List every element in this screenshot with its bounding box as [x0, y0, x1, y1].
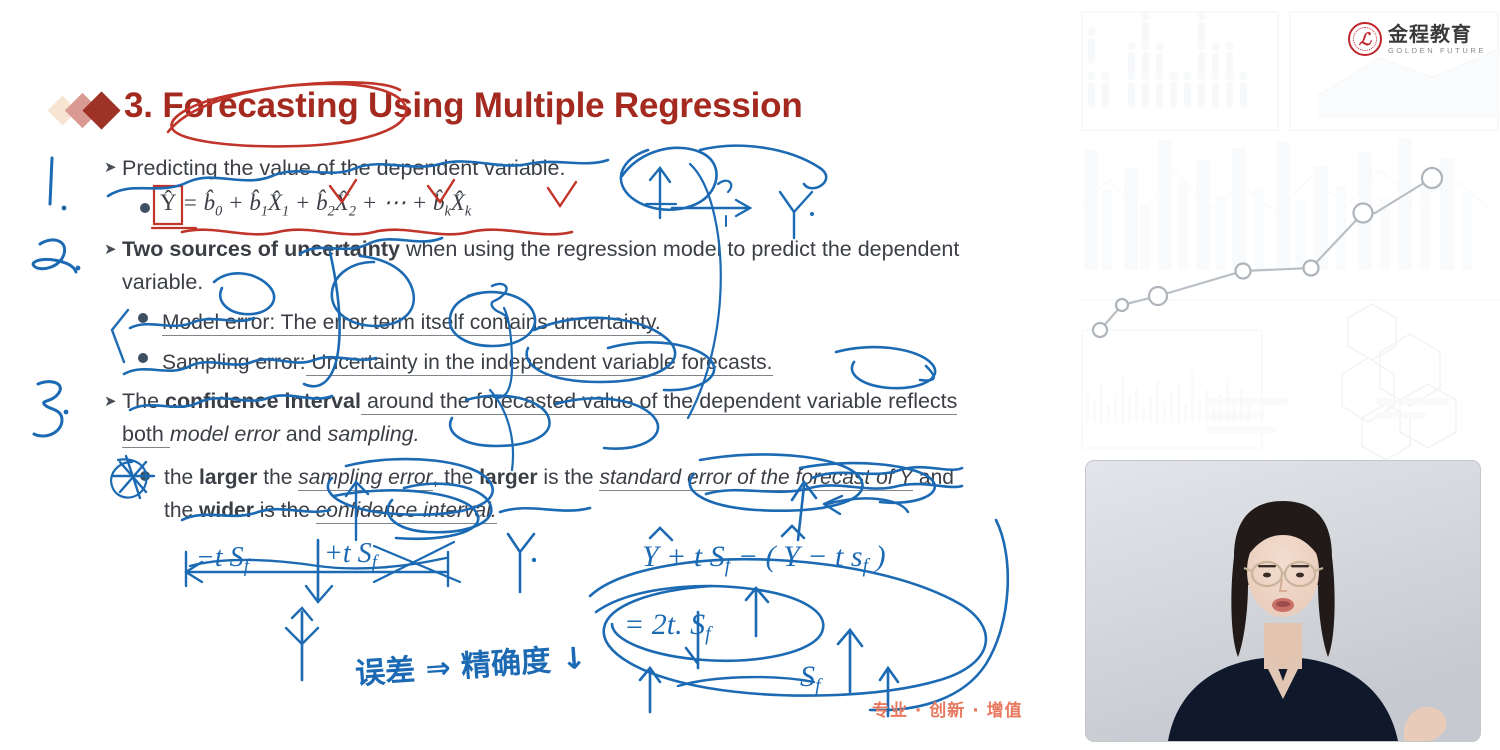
- regression-formula: Ŷ = b̂0 + b̂1X̂1 + b̂2X̂2 + ⋯ + b̂kX̂k: [160, 190, 471, 221]
- footer-slogan: 专业 · 创新 · 增值: [872, 696, 1023, 721]
- bullet-3-pre: The: [122, 389, 165, 413]
- bullet-3-text: The confidence interval around the forec…: [122, 385, 962, 451]
- bullet-marker-3: ➤: [104, 392, 117, 410]
- brand-name-cn: 金程教育: [1388, 24, 1486, 44]
- bullet-3-mid-2: and: [280, 422, 328, 446]
- ink-up-arrow-2: [838, 630, 862, 692]
- bullet-3-ital-2: sampling.: [328, 422, 420, 446]
- presenter-video-frame: [1086, 461, 1480, 741]
- formula-bullet-dot: [140, 203, 150, 213]
- slide-canvas: ℒ 金程教育 GOLDEN FUTURE 3. Forecasting Usin…: [0, 0, 1500, 750]
- sub-bullet-dot-model-error: [138, 313, 148, 323]
- sb-p2: the: [257, 466, 298, 489]
- sub-bullet-dot-sampling-error: [138, 353, 148, 363]
- ink-math-glyphs: −t Sf +t Sf Y + t Sf − ( Y − t sf ) = 2t…: [196, 538, 886, 697]
- sub-bullet-dot-larger-sampling: [140, 471, 150, 481]
- bullet-3-ital-1: model error: [170, 422, 280, 446]
- bullet-2-text: Two sources of uncertainty when using th…: [122, 233, 982, 299]
- title-diamond-decoration: [48, 86, 134, 134]
- ink-hat-2: [782, 526, 804, 538]
- sb-p1: the: [164, 466, 199, 489]
- sb-i2: standard error of the forecast of Y: [599, 466, 913, 491]
- ink-sf-note: Sf: [800, 660, 823, 697]
- sub-bullet-sampling-error: Sampling error: Uncertainty in the indep…: [162, 346, 962, 379]
- bullet-2-bold-lead: Two sources of uncertainty: [122, 237, 400, 261]
- formula-lhs: Ŷ: [160, 190, 177, 215]
- sub-bullet-model-error-label: Model error:: [162, 311, 275, 336]
- page-title-number: 3.: [124, 86, 153, 125]
- sub-bullet-sampling-error-text: Uncertainty in the independent variable …: [306, 351, 773, 376]
- sb-p3: , the: [433, 466, 480, 489]
- ink-result-expr: = 2t. Sf: [624, 608, 713, 645]
- sb-b3: wider: [199, 499, 254, 522]
- sb-i3: confidence interval.: [316, 499, 497, 524]
- ink-minus-tsf: −t Sf: [196, 542, 252, 577]
- formula-rhs: = b̂0 + b̂1X̂1 + b̂2X̂2 + ⋯ + b̂kX̂k: [182, 190, 471, 215]
- ink-width-expr: Y + t Sf − ( Y − t sf ): [642, 540, 886, 577]
- ink-cjk-note: 误差 ⇒ 精确度 ↓: [354, 641, 587, 692]
- ink-up-arrow-1: [746, 588, 768, 636]
- brand-name-en: GOLDEN FUTURE: [1388, 47, 1486, 55]
- bullet-marker-1: ➤: [104, 158, 117, 176]
- page-title-text: Forecasting Using Multiple Regression: [162, 86, 802, 125]
- presenter-video[interactable]: [1086, 461, 1480, 741]
- sb-p6: is the: [254, 499, 316, 522]
- background-line-chart: [1093, 168, 1442, 337]
- brand-seal-icon: ℒ: [1348, 22, 1382, 56]
- ink-plus-tsf: +t Sf: [324, 538, 380, 573]
- bullet-marker-2: ➤: [104, 240, 117, 258]
- background-infographic: [1080, 0, 1500, 470]
- sub-bullet-model-error-text: The error term itself contains uncertain…: [275, 311, 661, 336]
- bullet-1-text: Predicting the value of the dependent va…: [122, 152, 882, 185]
- svg-text:误差 ⇒ 精确度 ↓: 误差 ⇒ 精确度 ↓: [354, 641, 587, 692]
- ink-hat-1: [650, 528, 672, 540]
- sb-b1: larger: [199, 466, 257, 489]
- bullet-3-bold-1: confidence interval: [165, 389, 361, 413]
- sb-i1: sampling error: [298, 466, 432, 491]
- ink-down-arrow-cjk: [640, 668, 660, 712]
- brand-logo: ℒ 金程教育 GOLDEN FUTURE: [1348, 22, 1486, 56]
- sb-b2: larger: [479, 466, 537, 489]
- sub-bullet-sampling-error-label: Sampling error:: [162, 351, 306, 374]
- sub-bullet-larger-sampling: the larger the sampling error, the large…: [164, 461, 954, 527]
- sb-p4: is the: [538, 466, 600, 489]
- ink-tick-1: [686, 612, 698, 668]
- sub-bullet-model-error: Model error: The error term itself conta…: [162, 306, 922, 339]
- brand-seal-glyph: ℒ: [1359, 31, 1371, 48]
- page-title: 3. Forecasting Using Multiple Regression: [124, 86, 803, 126]
